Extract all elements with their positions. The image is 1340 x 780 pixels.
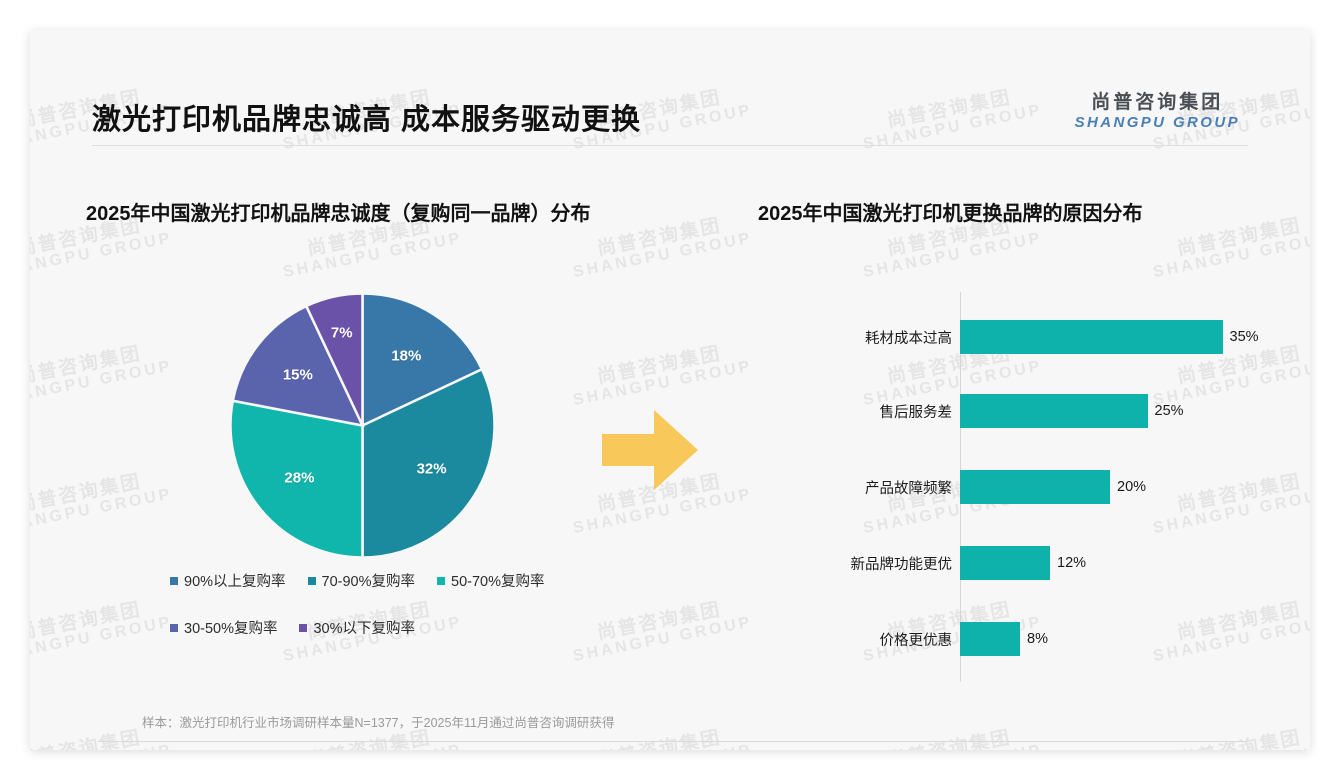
brand-logo: 尚普咨询集团 SHANGPU GROUP (1075, 92, 1240, 131)
legend-item[interactable]: 70-90%复购率 (308, 570, 415, 591)
legend-item[interactable]: 30%以下复购率 (299, 617, 415, 638)
pie-svg (230, 293, 495, 558)
bar-fill[interactable] (960, 320, 1223, 354)
bar-category-label: 价格更优惠 (820, 629, 960, 650)
bar-track: 35% (960, 320, 1290, 354)
watermark-text: 尚普咨询集团SHANGPU GROUP (568, 211, 754, 282)
bar-value-label: 35% (1230, 329, 1259, 345)
pie-slice-label: 28% (284, 469, 314, 486)
pie-chart-title: 2025年中国激光打印机品牌忠诚度（复购同一品牌）分布 (86, 197, 591, 226)
watermark-text: 尚普咨询集团SHANGPU GROUP (1148, 723, 1310, 750)
watermark-text: 尚普咨询集团SHANGPU GROUP (30, 467, 174, 538)
sample-note: 样本：激光打印机行业市场调研样本量N=1377，于2025年11月通过尚普咨询调… (142, 712, 614, 731)
bar-track: 12% (960, 546, 1290, 580)
watermark-text: 尚普咨询集团SHANGPU GROUP (30, 595, 174, 666)
bar-row[interactable]: 耗材成本过高35% (820, 320, 1290, 354)
bar-track: 20% (960, 470, 1290, 504)
bar-value-label: 20% (1117, 479, 1146, 495)
bar-fill[interactable] (960, 394, 1148, 428)
watermark-text: 尚普咨询集团SHANGPU GROUP (30, 339, 174, 410)
right-arrow-icon (602, 408, 698, 497)
legend-row-1: 90%以上复购率70-90%复购率50-70%复购率 (170, 570, 600, 591)
legend-swatch (170, 577, 178, 585)
bar-row[interactable]: 产品故障频繁20% (820, 470, 1290, 504)
slide-header: 激光打印机品牌忠诚高 成本服务驱动更换 尚普咨询集团 SHANGPU GROUP (30, 30, 1310, 120)
bar-track: 8% (960, 622, 1290, 656)
pie-legend: 90%以上复购率70-90%复购率50-70%复购率 30-50%复购率30%以… (170, 570, 600, 664)
watermark-text: 尚普咨询集团SHANGPU GROUP (1148, 211, 1310, 282)
watermark-text: 尚普咨询集团SHANGPU GROUP (568, 339, 754, 410)
legend-swatch (437, 577, 445, 585)
legend-label: 50-70%复购率 (451, 570, 544, 591)
bar-fill[interactable] (960, 622, 1020, 656)
bar-row[interactable]: 价格更优惠8% (820, 622, 1290, 656)
pie-slice-label: 18% (391, 348, 421, 365)
legend-label: 30%以下复购率 (313, 617, 415, 638)
page-title: 激光打印机品牌忠诚高 成本服务驱动更换 (92, 96, 641, 138)
bar-chart-title: 2025年中国激光打印机更换品牌的原因分布 (758, 197, 1143, 226)
header-divider (92, 145, 1248, 146)
bar-fill[interactable] (960, 546, 1050, 580)
legend-swatch (299, 624, 307, 632)
bar-row[interactable]: 售后服务差25% (820, 394, 1290, 428)
legend-label: 70-90%复购率 (322, 570, 415, 591)
slide-card: 尚普咨询集团SHANGPU GROUP尚普咨询集团SHANGPU GROUP尚普… (30, 30, 1310, 750)
legend-item[interactable]: 30-50%复购率 (170, 617, 277, 638)
bar-category-label: 售后服务差 (820, 401, 960, 422)
legend-swatch (308, 577, 316, 585)
pie-slice-label: 15% (283, 367, 313, 384)
switch-reason-bar-chart: 耗材成本过高35%售后服务差25%产品故障频繁20%新品牌功能更优12%价格更优… (820, 292, 1290, 682)
legend-item[interactable]: 90%以上复购率 (170, 570, 286, 591)
legend-row-2: 30-50%复购率30%以下复购率 (170, 617, 600, 638)
loyalty-pie-chart: 18%32%28%15%7% (230, 293, 495, 558)
legend-label: 90%以上复购率 (184, 570, 286, 591)
bar-category-label: 产品故障频繁 (820, 477, 960, 498)
bar-category-label: 新品牌功能更优 (820, 553, 960, 574)
bar-fill[interactable] (960, 470, 1110, 504)
bar-row[interactable]: 新品牌功能更优12% (820, 546, 1290, 580)
bar-value-label: 25% (1155, 403, 1184, 419)
legend-item[interactable]: 50-70%复购率 (437, 570, 544, 591)
logo-chinese: 尚普咨询集团 (1075, 92, 1240, 114)
watermark-text: 尚普咨询集团SHANGPU GROUP (858, 723, 1044, 750)
logo-english: SHANGPU GROUP (1075, 114, 1240, 131)
pie-slice-label: 7% (331, 324, 353, 341)
bar-value-label: 12% (1057, 555, 1086, 571)
bar-category-label: 耗材成本过高 (820, 327, 960, 348)
legend-swatch (170, 624, 178, 632)
footer-divider (98, 741, 1248, 742)
legend-label: 30-50%复购率 (184, 617, 277, 638)
bar-track: 25% (960, 394, 1290, 428)
bar-value-label: 8% (1027, 631, 1048, 647)
pie-slice-label: 32% (417, 461, 447, 478)
